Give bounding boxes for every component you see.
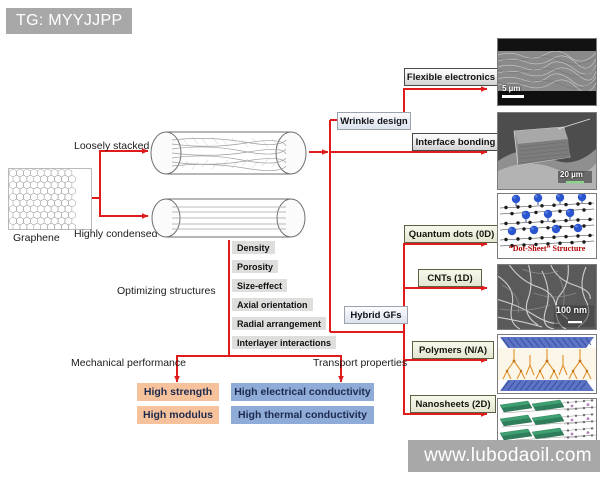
optimizing-item-size-effect: Size-effect xyxy=(232,279,287,292)
graphene-lattice-panel xyxy=(8,168,92,230)
scalebar-100nm: 100 nm xyxy=(556,305,587,315)
graphene-label: Graphene xyxy=(13,232,60,244)
hexagonal-lattice-icon xyxy=(9,169,91,229)
filler-cnts-1d: CNTs (1D) xyxy=(418,269,482,287)
optimizing-structures-title: Optimizing structures xyxy=(117,285,216,297)
outcome-high-electrical-conductivity: High electrical conductivity xyxy=(231,383,374,401)
application-flexible-electronics: Flexible electronics xyxy=(404,68,498,86)
highly-condensed-fiber xyxy=(148,198,310,238)
filler-nanosheets-2d: Nanosheets (2D) xyxy=(410,395,496,413)
micrograph-dot-sheet-model: “Dot-Sheet” Structure xyxy=(497,193,597,259)
optimizing-item-interlayer-interactions: Interlayer interactions xyxy=(232,336,336,349)
application-interface-bonding: Interface bonding xyxy=(412,133,499,151)
micrograph-fiber-cross-section: 20 µm xyxy=(497,112,597,190)
optimizing-item-porosity: Porosity xyxy=(232,260,278,273)
watermark-bottom-right: www.lubodaoil.com xyxy=(408,440,600,472)
micrograph-cnt-network-sem: 100 nm xyxy=(497,264,597,330)
loosely-stacked-fiber xyxy=(148,131,310,175)
outcome-high-strength: High strength xyxy=(137,383,219,401)
micrograph-wrinkled-film-sem: 5 µm xyxy=(497,38,597,106)
optimizing-item-density: Density xyxy=(232,241,275,254)
scalebar-5um: 5 µm xyxy=(502,84,520,93)
optimizing-item-radial-arrangement: Radial arrangement xyxy=(232,317,326,330)
highly-condensed-label: Highly condensed xyxy=(74,228,157,240)
transport-properties-label: Transport properties xyxy=(313,357,407,369)
filler-polymers-na: Polymers (N/A) xyxy=(412,341,494,359)
watermark-top-left: TG: MYYJJPP xyxy=(6,8,132,34)
loosely-stacked-label: Loosely stacked xyxy=(74,140,149,152)
caption-dot-sheet-structure: “Dot-Sheet” Structure xyxy=(498,244,596,253)
mechanical-performance-label: Mechanical performance xyxy=(71,357,186,369)
outcome-high-modulus: High modulus xyxy=(137,406,219,424)
route-hybrid-gfs: Hybrid GFs xyxy=(344,306,408,324)
scalebar-20um: 20 µm xyxy=(560,170,583,179)
outcome-high-thermal-conductivity: High thermal conductivity xyxy=(231,406,374,424)
optimizing-item-axial-orientation: Axial orientation xyxy=(232,298,313,311)
filler-quantum-dots-0d: Quantum dots (0D) xyxy=(404,225,499,243)
micrograph-polymer-interlayer-model xyxy=(497,334,597,394)
route-wrinkle-design: Wrinkle design xyxy=(337,112,411,130)
diagram-canvas: Graphene Loosely stacked Highly condense… xyxy=(0,0,600,480)
